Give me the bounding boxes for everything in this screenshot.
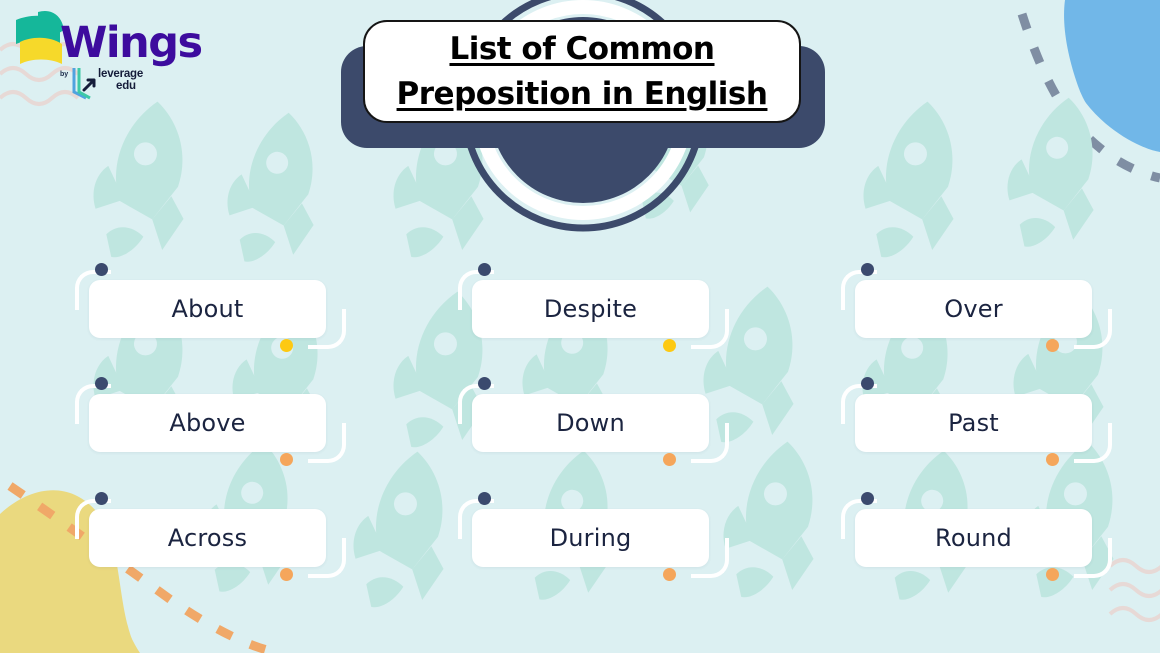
card-label: Down — [556, 409, 625, 437]
card-box[interactable]: Round — [855, 509, 1092, 567]
card-box[interactable]: During — [472, 509, 709, 567]
page-title-line-1: List of Common — [449, 27, 714, 72]
preposition-card[interactable]: Across — [73, 492, 373, 597]
title-card-box: List of Common Preposition in English — [363, 20, 801, 123]
preposition-card[interactable]: Despite — [456, 263, 756, 368]
preposition-card[interactable]: About — [73, 263, 373, 368]
card-box[interactable]: Across — [89, 509, 326, 567]
card-dot-accent — [1046, 339, 1059, 352]
card-box[interactable]: About — [89, 280, 326, 338]
card-label: Past — [948, 409, 999, 437]
logo-sub-line-2: edu — [116, 80, 136, 92]
card-dot-accent — [280, 339, 293, 352]
card-dot-navy — [861, 377, 874, 390]
card-dot-accent — [663, 339, 676, 352]
card-dot-navy — [478, 263, 491, 276]
card-dot-navy — [95, 492, 108, 505]
card-dot-accent — [1046, 453, 1059, 466]
infographic-canvas: Wings by leverage edu List of Common Pre… — [0, 0, 1160, 653]
card-dot-navy — [478, 377, 491, 390]
card-label: Above — [169, 409, 245, 437]
preposition-card[interactable]: Past — [839, 377, 1139, 482]
card-label: Round — [935, 524, 1012, 552]
card-label: Over — [944, 295, 1003, 323]
card-dot-navy — [95, 377, 108, 390]
card-dot-accent — [663, 568, 676, 581]
wings-logo[interactable]: Wings by leverage edu — [8, 6, 188, 114]
card-dot-navy — [95, 263, 108, 276]
card-dot-accent — [280, 568, 293, 581]
card-label: Despite — [544, 295, 637, 323]
card-dot-navy — [861, 263, 874, 276]
card-dot-accent — [280, 453, 293, 466]
card-label: Across — [168, 524, 247, 552]
card-box[interactable]: Over — [855, 280, 1092, 338]
logo-wordmark: Wings — [60, 22, 202, 65]
preposition-card[interactable]: Over — [839, 263, 1139, 368]
card-label: About — [172, 295, 244, 323]
page-title-line-2: Preposition in English — [397, 72, 768, 117]
preposition-card[interactable]: During — [456, 492, 756, 597]
card-label: During — [550, 524, 632, 552]
card-dot-navy — [861, 492, 874, 505]
logo-by-label: by — [60, 71, 68, 78]
card-box[interactable]: Down — [472, 394, 709, 452]
card-box[interactable]: Above — [89, 394, 326, 452]
preposition-card[interactable]: Above — [73, 377, 373, 482]
preposition-card[interactable]: Down — [456, 377, 756, 482]
card-box[interactable]: Despite — [472, 280, 709, 338]
card-dot-navy — [478, 492, 491, 505]
card-dot-accent — [663, 453, 676, 466]
book-arrow-icon — [70, 66, 96, 100]
page-title-card: List of Common Preposition in English — [341, 20, 825, 148]
card-box[interactable]: Past — [855, 394, 1092, 452]
preposition-card[interactable]: Round — [839, 492, 1139, 597]
logo-sub-line-1: leverage — [98, 68, 143, 80]
card-dot-accent — [1046, 568, 1059, 581]
